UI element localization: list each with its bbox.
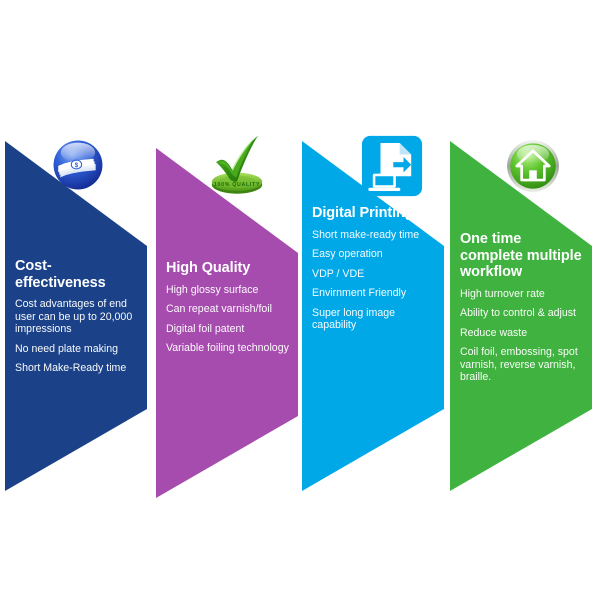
list-item: Easy operation: [312, 248, 438, 261]
list-item: VDP / VDE: [312, 268, 438, 281]
panel-title-digital: Digital Printing: [312, 205, 438, 222]
panel-title-cost: Cost-effectiveness: [15, 258, 141, 291]
list-item: Ability to control & adjust: [460, 307, 586, 320]
list-item: Super long image capability: [312, 307, 438, 332]
home-icon: [506, 139, 560, 193]
panel-content-digital: Digital Printing Short make-ready time E…: [312, 205, 438, 339]
list-item: Digital foil patent: [166, 323, 292, 336]
money-stack-icon: $: [52, 139, 104, 191]
list-item: High turnover rate: [460, 288, 586, 301]
panel-title-workflow: One time complete multiple workflow: [460, 231, 586, 281]
panel-list-workflow: High turnover rate Ability to control & …: [460, 288, 586, 385]
list-item: Variable foiling technology: [166, 342, 292, 355]
list-item: Reduce waste: [460, 327, 586, 340]
panel-list-quality: High glossy surface Can repeat varnish/f…: [166, 284, 292, 355]
svg-text:$: $: [75, 162, 79, 169]
panel-list-digital: Short make-ready time Easy operation VDP…: [312, 229, 438, 333]
panel-title-quality: High Quality: [166, 260, 292, 277]
panel-list-cost: Cost advantages of end user can be up to…: [15, 298, 141, 375]
list-item: Can repeat varnish/foil: [166, 303, 292, 316]
document-laptop-icon: [360, 134, 424, 198]
list-item: Short Make-Ready time: [15, 362, 141, 375]
quality-checkmark-icon: 100% QUALITY: [202, 130, 272, 200]
list-item: No need plate making: [15, 343, 141, 356]
infographic-canvas: Cost-effectiveness Cost advantages of en…: [0, 0, 600, 600]
panel-content-quality: High Quality High glossy surface Can rep…: [166, 260, 292, 362]
list-item: Coil foil, embossing, spot varnish, reve…: [460, 346, 586, 384]
list-item: Cost advantages of end user can be up to…: [15, 298, 141, 336]
panel-content-workflow: One time complete multiple workflow High…: [460, 231, 586, 391]
list-item: Short make-ready time: [312, 229, 438, 242]
list-item: High glossy surface: [166, 284, 292, 297]
panel-content-cost: Cost-effectiveness Cost advantages of en…: [15, 258, 141, 382]
svg-text:100% QUALITY: 100% QUALITY: [214, 182, 260, 188]
list-item: Envirnment Friendly: [312, 287, 438, 300]
